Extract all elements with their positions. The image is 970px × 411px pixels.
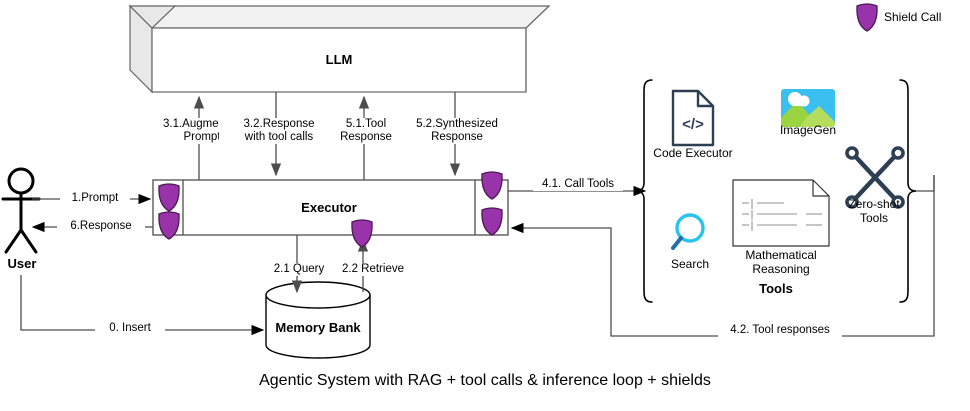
llm-label: LLM — [152, 52, 526, 67]
edge-label-5-1-line2: Response — [322, 131, 410, 144]
tool-label-zero-shot-line1: Zero-shot — [835, 198, 913, 211]
edge-label-1-prompt: 1.Prompt — [60, 192, 130, 205]
tools-group-brace-right — [900, 80, 916, 302]
edge-label-2-2-retrieve: 2.2 Retrieve — [331, 263, 415, 276]
diagram-canvas: </> — [0, 0, 970, 411]
edge-label-5-2-line2: Response — [398, 131, 516, 144]
tool-label-code-executor: Code Executor — [648, 147, 738, 160]
executor-label: Executor — [183, 200, 475, 215]
shield-icon-legend — [857, 4, 877, 31]
edge-label-4-1-call-tools: 4.1. Call Tools — [533, 178, 623, 191]
imagegen-icon[interactable] — [781, 89, 835, 127]
tool-label-math-line2: Reasoning — [726, 263, 836, 276]
legend-shield-label: Shield Call — [884, 11, 941, 24]
memory-bank-label: Memory Bank — [266, 320, 370, 335]
edge-label-6-response: 6.Response — [57, 220, 145, 233]
svg-text:</>: </> — [682, 116, 704, 133]
diagram-title: Agentic System with RAG + tool calls & i… — [0, 372, 970, 390]
user-node[interactable] — [3, 169, 39, 252]
edge-label-3-2-line2: with tool calls — [219, 131, 339, 144]
shield-icon-executor-memory[interactable] — [352, 220, 372, 247]
edge-label-2-1-query: 2.1 Query — [263, 263, 335, 276]
math-document-icon[interactable] — [733, 180, 829, 246]
edge-label-5-1-line1: 5.1.Tool — [322, 118, 410, 131]
tools-group-label: Tools — [724, 281, 828, 296]
tool-label-math-line1: Mathematical — [726, 249, 836, 262]
magnifier-icon[interactable] — [673, 215, 703, 248]
llm-node[interactable] — [130, 6, 549, 92]
edge-label-4-2-tool-responses: 4.2. Tool responses — [718, 324, 842, 337]
user-label: User — [0, 256, 44, 271]
edge-label-5-2-line1: 5.2.Synthesized — [398, 118, 516, 131]
tool-label-search: Search — [655, 258, 725, 271]
edge-label-0-insert: 0. Insert — [95, 322, 165, 335]
tool-label-imagegen: ImageGen — [763, 124, 853, 137]
edge-label-3-2-line1: 3.2.Response — [219, 118, 339, 131]
code-executor-icon[interactable]: </> — [673, 91, 713, 145]
tool-label-zero-shot-line2: Tools — [835, 212, 913, 225]
